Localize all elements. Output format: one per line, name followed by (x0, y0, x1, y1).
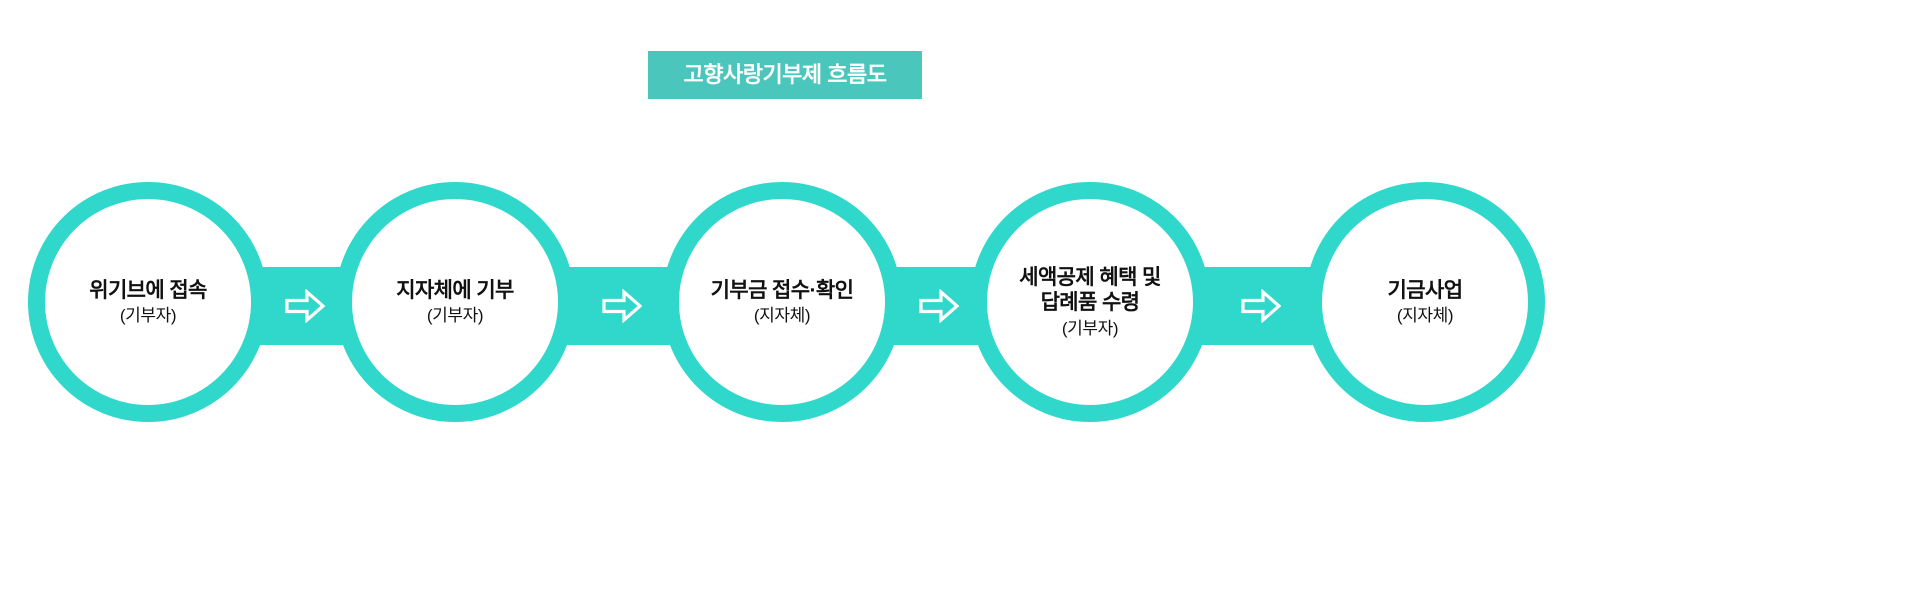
flow-step-3-label: 기부금 접수·확인 (711, 278, 854, 304)
flow-step-2-sublabel: (기부자) (427, 306, 483, 326)
flow-step-1: 위기브에 접속 (기부자) (28, 182, 268, 422)
flow-step-5-label: 기금사업 (1388, 278, 1463, 304)
flow-step-2: 지자체에 기부 (기부자) (335, 182, 575, 422)
flow-step-3: 기부금 접수·확인 (지자체) (662, 182, 902, 422)
flow-step-4-label: 세액공제 혜택 및 답례품 수령 (1019, 265, 1161, 316)
flow-diagram: 위기브에 접속 (기부자) 지자체에 기부 (기부자) 기부금 접수·확인 (지… (0, 182, 1920, 422)
diagram-title: 고향사랑기부제 흐름도 (683, 64, 886, 86)
arrow-right-icon (602, 289, 642, 323)
flow-step-1-label: 위기브에 접속 (89, 278, 207, 304)
flow-step-2-label: 지자체에 기부 (396, 278, 514, 304)
arrow-right-icon (1241, 289, 1281, 323)
flow-step-5-sublabel: (지자체) (1397, 306, 1453, 326)
arrow-right-icon (285, 289, 325, 323)
flow-step-4-sublabel: (기부자) (1062, 319, 1118, 339)
arrow-right-icon (919, 289, 959, 323)
diagram-title-banner: 고향사랑기부제 흐름도 (648, 51, 922, 99)
flow-step-4: 세액공제 혜택 및 답례품 수령 (기부자) (970, 182, 1210, 422)
flow-step-5: 기금사업 (지자체) (1305, 182, 1545, 422)
flow-step-1-sublabel: (기부자) (120, 306, 176, 326)
flow-step-3-sublabel: (지자체) (754, 306, 810, 326)
